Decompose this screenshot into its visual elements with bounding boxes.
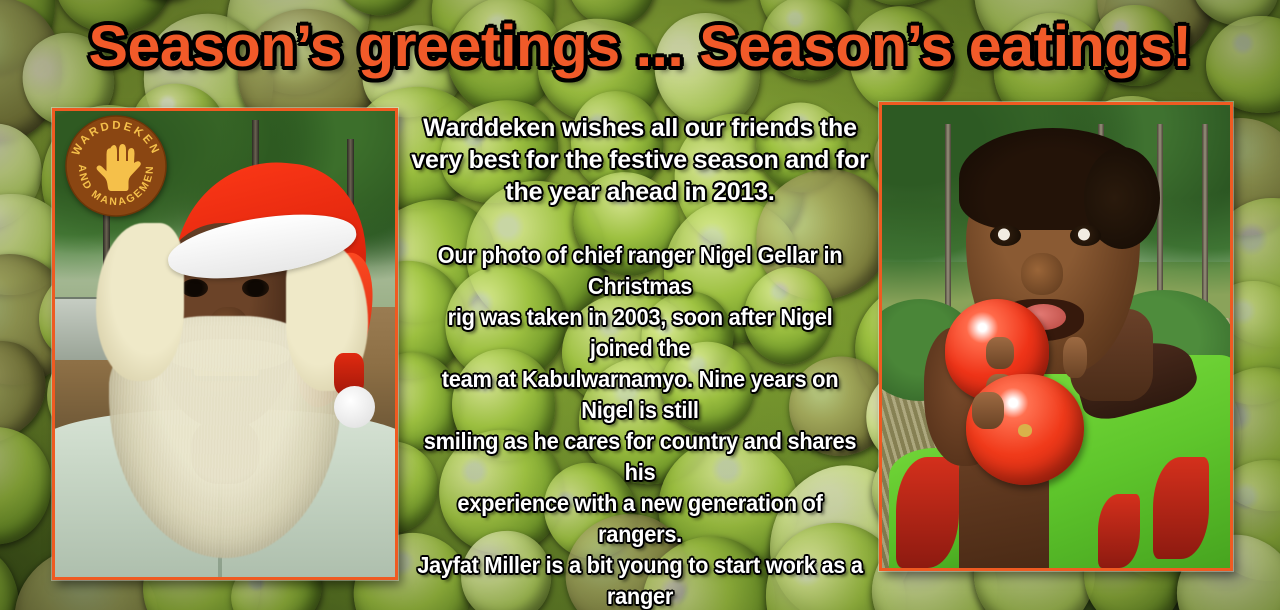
shirt-flame-pattern — [1153, 457, 1209, 559]
body-line: Jayfat Miller is a bit young to start wo… — [416, 550, 864, 610]
body-line: team at Kabulwarnamyo. Nine years on Nig… — [416, 364, 864, 426]
body-line: experience with a new generation of rang… — [416, 488, 864, 550]
finger — [1063, 337, 1087, 379]
message-column: Warddeken wishes all our friends the ver… — [404, 112, 876, 610]
page-title: Season’s greetings ... Season’s eatings! — [0, 16, 1280, 78]
warddeken-land-management-logo: WARDDEKEN LAND MANAGEMENT — [62, 112, 170, 220]
body-line: Our photo of chief ranger Nigel Gellar i… — [416, 240, 864, 302]
finger — [972, 392, 1003, 429]
nose — [1021, 253, 1063, 295]
body-line: rig was taken in 2003, soon after Nigel … — [416, 302, 864, 364]
santa-hat-pompom — [334, 386, 375, 428]
greeting-intro: Warddeken wishes all our friends the ver… — [404, 112, 876, 208]
shirt-flame-pattern — [896, 457, 959, 568]
finger — [986, 337, 1014, 369]
intro-line: Warddeken wishes all our friends the — [423, 114, 857, 142]
apple-calyx — [1018, 424, 1032, 436]
poster-canvas: Season’s greetings ... Season’s eatings! — [0, 0, 1280, 610]
photo-jayfat-miller-andjarduk — [879, 102, 1233, 571]
body-line: smiling as he cares for country and shar… — [416, 426, 864, 488]
right-photo-scene — [882, 105, 1230, 568]
intro-line: very best for the festive season and — [411, 146, 829, 174]
shirt-flame-pattern — [1098, 494, 1140, 568]
body-paragraph: Our photo of chief ranger Nigel Gellar i… — [416, 240, 864, 610]
